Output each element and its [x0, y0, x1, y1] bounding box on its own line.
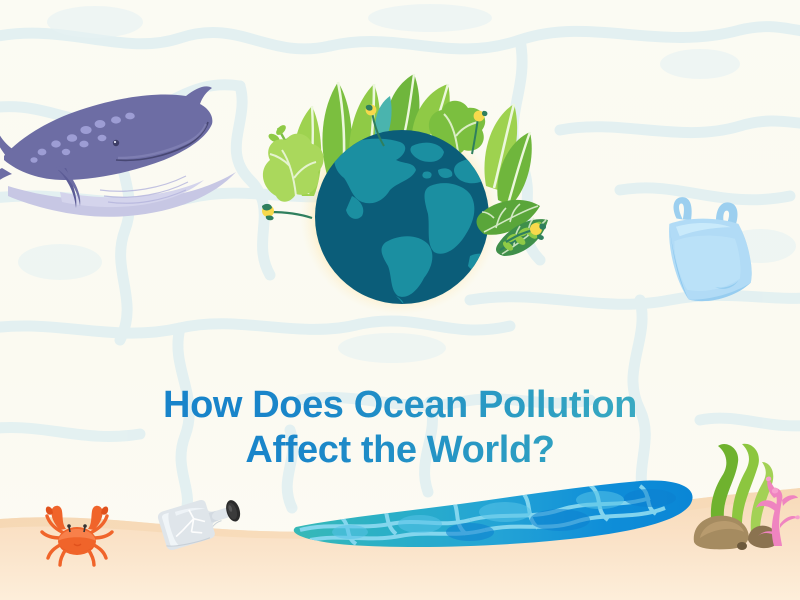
page-title-line-1: How Does Ocean Pollution — [0, 383, 800, 428]
poster-canvas: How Does Ocean Pollution Affect the Worl… — [0, 0, 800, 600]
page-title-line-2: Affect the World? — [0, 428, 800, 473]
crab — [42, 506, 112, 565]
beach-debris — [0, 0, 800, 600]
page-title: How Does Ocean Pollution Affect the Worl… — [0, 383, 800, 473]
glass-bottle — [156, 490, 245, 552]
